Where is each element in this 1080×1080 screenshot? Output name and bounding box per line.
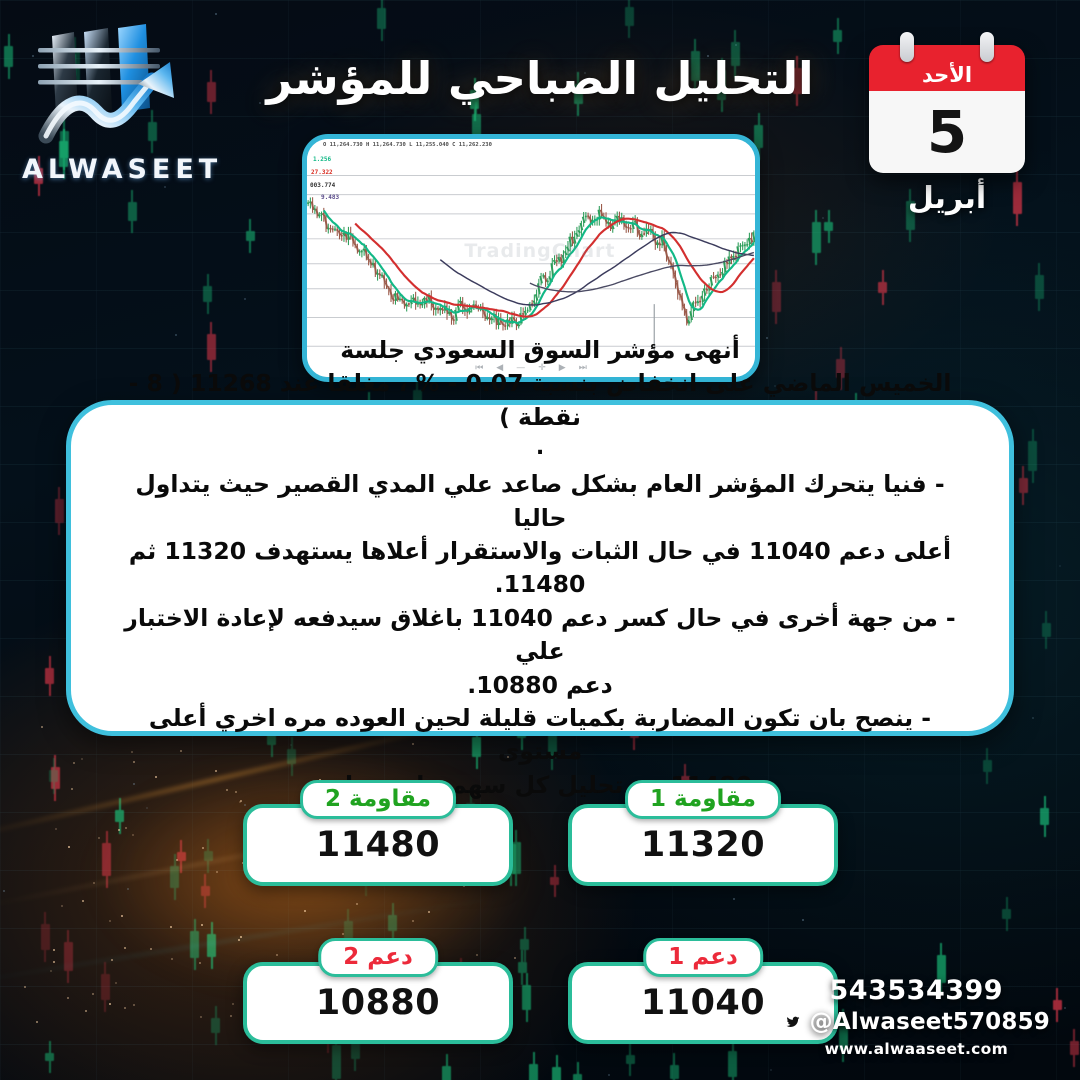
resistance-2-value: 11480 [316,825,440,865]
resistance-2-label: مقاومة 2 [300,780,456,819]
analysis-line-5: - من جهة أخرى في حال كسر دعم 11040 باغلا… [105,602,975,669]
contact-website[interactable]: www.alwaaseet.com [783,1040,1050,1058]
analysis-line-8: 11480 مع تحليل كل سهم على حدا . [105,769,975,802]
chart-watermark: TradingChart [464,240,615,262]
analysis-line-4: أعلى دعم 11040 في حال الثبات والاستقرار … [105,535,975,602]
twitter-bird-icon [783,1012,804,1033]
analysis-line-3: - فنيا يتحرك المؤشر العام بشكل صاعد علي … [105,468,975,535]
chart-ma-green [324,210,754,322]
analysis-line-2: الخميس الماضي على انخفاض بنسبة 0.07 - % … [105,367,975,434]
contact-phone[interactable]: 543534399 [783,975,1050,1006]
support-1-value: 11040 [641,983,765,1023]
calendar-day: 5 [869,91,1025,173]
analysis-separator-dot: . [105,436,975,460]
calendar-widget: الأحد 5 أبريل [869,32,1025,216]
alwaseet-bars-arrow-logo [30,18,195,158]
resistance-1-value: 11320 [641,825,765,865]
brand-logo: ALWASEET [22,18,202,198]
calendar-weekday-text: الأحد [922,63,972,87]
calendar-weekday: الأحد [869,45,1025,91]
analysis-panel: أنهى مؤشر السوق السعودي جلسة الخميس الما… [66,400,1014,736]
twitter-handle: @Alwaseet570859 [810,1009,1050,1035]
chart-price-label-2: 27.322 [311,169,333,176]
calendar-day-number: 5 [927,103,967,161]
calendar-ring-icon [980,32,994,62]
chart-price-label-1: 1.256 [313,156,331,163]
chart-price-label-3: 003.774 [310,182,335,189]
chart-ohlc-label: O 11,264.730 H 11,264.730 L 11,255.040 C… [323,142,492,148]
support-2-label: دعم 2 [318,938,438,977]
contact-twitter[interactable]: @Alwaseet570859 [783,1009,1050,1035]
contact-block: 543534399 @Alwaseet570859 www.alwaaseet.… [783,975,1050,1058]
analysis-line-1: أنهى مؤشر السوق السعودي جلسة [105,334,975,367]
calendar-body: الأحد 5 [869,45,1025,173]
page-title: التحليل الصباحي للمؤشر [240,52,840,105]
calendar-rings [869,32,1025,45]
calendar-month: أبريل [869,181,1025,216]
analysis-line-6: دعم 10880. [105,669,975,702]
chart-price-label-4: 9.483 [321,194,339,201]
support-2-value: 10880 [316,983,440,1023]
resistance-1-label: مقاومة 1 [625,780,781,819]
analysis-line-7: - ينصح بان تكون المضاربة بكميات قليلة لح… [105,702,975,769]
logo-wordmark: ALWASEET [22,154,202,185]
support-1-label: دعم 1 [643,938,763,977]
calendar-ring-icon [900,32,914,62]
